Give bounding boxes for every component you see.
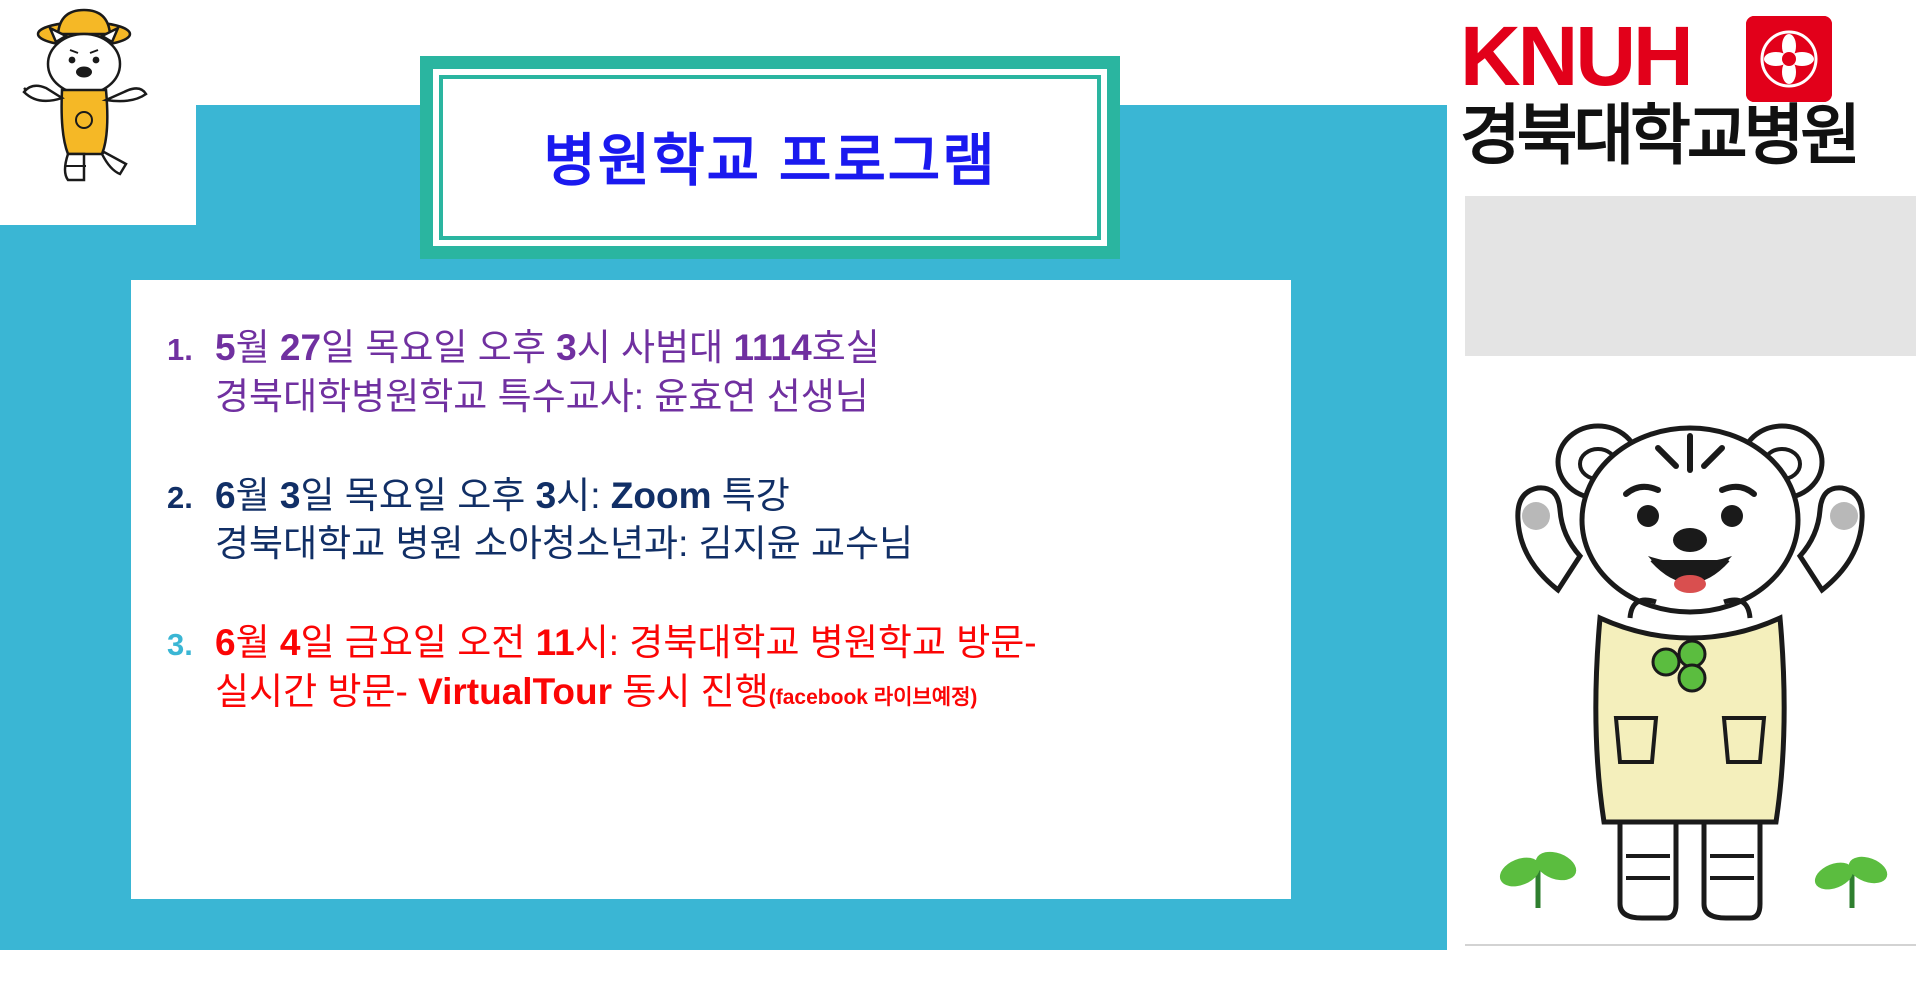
program-text-segment: 경북대학교 병원 소아청소년과: 김지윤 교수님 xyxy=(215,523,913,564)
program-item: 2.6월 3일 목요일 오후 3시: Zoom 특강 경북대학교 병원 소아청소… xyxy=(149,472,1281,570)
program-text-segment: Zoom xyxy=(611,475,712,516)
knuh-korean-name: 경북대학교병원 xyxy=(1460,102,1857,168)
program-text-segment: 5 xyxy=(215,327,236,368)
program-item-text: 6월 3일 목요일 오후 3시: Zoom 특강 xyxy=(215,472,790,521)
right-gray-placeholder xyxy=(1465,196,1916,356)
program-text-segment: 6 xyxy=(215,475,236,516)
program-item-marker-spacer xyxy=(149,528,215,564)
program-content-card: 1.5월 27일 목요일 오후 3시 사범대 1114호실 경북대학병원학교 특… xyxy=(131,280,1291,899)
program-text-segment: 시: 경북대학교 병원학교 방문- xyxy=(575,622,1037,663)
program-item-marker: 3. xyxy=(149,627,215,663)
program-text-segment: 일 목요일 오후 xyxy=(321,327,556,368)
program-text-segment: 경북대학병원학교 특수교사: 윤효연 선생님 xyxy=(215,376,869,417)
program-item: 3.6월 4일 금요일 오전 11시: 경북대학교 병원학교 방문- 실시간 방… xyxy=(149,619,1281,717)
program-text-segment: 11 xyxy=(536,622,575,663)
program-text-segment: (facebook 라이브예정) xyxy=(769,686,978,709)
program-item-line: 3.6월 4일 금요일 오전 11시: 경북대학교 병원학교 방문- xyxy=(149,619,1281,668)
program-text-segment: 월 xyxy=(236,622,280,663)
program-item-marker-spacer xyxy=(149,676,215,712)
slide-canvas: 병원학교 프로그램 1.5월 27일 목요일 오후 3시 사범대 1114호실 … xyxy=(0,0,1916,995)
tiger-mascot-large-icon xyxy=(1480,370,1900,940)
program-item-text: 6월 4일 금요일 오전 11시: 경북대학교 병원학교 방문- xyxy=(215,619,1037,668)
program-text-segment: VirtualTour xyxy=(418,671,612,712)
program-text-segment: 3 xyxy=(280,475,301,516)
program-item-text: 경북대학교 병원 소아청소년과: 김지윤 교수님 xyxy=(215,520,913,569)
tiger-mascot-small-icon xyxy=(6,4,182,186)
program-item-marker: 1. xyxy=(149,332,215,368)
program-item-list: 1.5월 27일 목요일 오후 3시 사범대 1114호실 경북대학병원학교 특… xyxy=(149,324,1281,717)
program-item-line: 경북대학교 병원 소아청소년과: 김지윤 교수님 xyxy=(149,520,1281,569)
title-box: 병원학교 프로그램 xyxy=(420,56,1120,259)
program-text-segment: 월 xyxy=(236,475,280,516)
program-text-segment: 호실 xyxy=(812,327,880,368)
program-text-segment: 3 xyxy=(556,327,577,368)
program-item-marker: 2. xyxy=(149,480,215,516)
program-item: 1.5월 27일 목요일 오후 3시 사범대 1114호실 경북대학병원학교 특… xyxy=(149,324,1281,422)
program-item-line: 경북대학병원학교 특수교사: 윤효연 선생님 xyxy=(149,373,1281,422)
program-text-segment: 6 xyxy=(215,622,236,663)
program-item-line: 실시간 방문- VirtualTour 동시 진행(facebook 라이브예정… xyxy=(149,668,1281,717)
knuh-emblem-icon xyxy=(1746,16,1832,102)
program-text-segment: 3 xyxy=(536,475,557,516)
program-item-line: 2.6월 3일 목요일 오후 3시: Zoom 특강 xyxy=(149,472,1281,521)
program-item-text: 경북대학병원학교 특수교사: 윤효연 선생님 xyxy=(215,373,869,422)
knuh-logo-text: KNUH xyxy=(1460,14,1691,98)
top-left-mascot-plate xyxy=(0,0,196,225)
program-text-segment: 월 xyxy=(236,327,280,368)
program-text-segment: 실시간 방문- xyxy=(215,671,418,712)
program-text-segment: 27 xyxy=(280,327,321,368)
title-box-inner-border: 병원학교 프로그램 xyxy=(439,75,1101,240)
program-item-marker-spacer xyxy=(149,381,215,417)
program-text-segment: 4 xyxy=(280,622,301,663)
knuh-logo: KNUH 경북대학교병원 xyxy=(1460,14,1910,186)
program-item-text: 실시간 방문- VirtualTour 동시 진행(facebook 라이브예정… xyxy=(215,668,977,717)
program-text-segment: 1114 xyxy=(733,327,811,368)
program-text-segment: 시 사범대 xyxy=(577,327,734,368)
program-text-segment: 특강 xyxy=(711,475,789,516)
program-text-segment: 시: xyxy=(556,475,611,516)
program-item-line: 1.5월 27일 목요일 오후 3시 사범대 1114호실 xyxy=(149,324,1281,373)
program-text-segment: 일 목요일 오후 xyxy=(300,475,535,516)
program-item-text: 5월 27일 목요일 오후 3시 사범대 1114호실 xyxy=(215,324,880,373)
bottom-divider xyxy=(1465,944,1916,946)
program-text-segment: 일 금요일 오전 xyxy=(300,622,535,663)
program-text-segment: 동시 진행 xyxy=(612,671,769,712)
page-title: 병원학교 프로그램 xyxy=(543,125,996,190)
